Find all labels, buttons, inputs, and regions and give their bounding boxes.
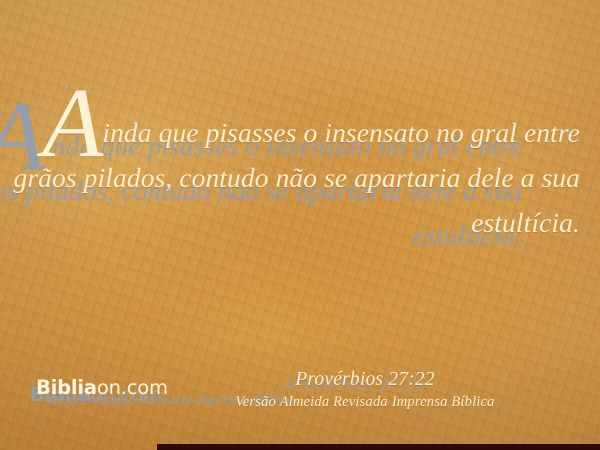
bottom-accent-bar bbox=[157, 444, 600, 450]
version-line: Versão Almeida Revisada Imprensa Bíblica bbox=[155, 392, 575, 413]
verse-text-block: Ainda que pisasses o insensato no gral e… bbox=[0, 52, 600, 332]
verse-text-main: Ainda que pisasses o insensato no gral e… bbox=[0, 110, 580, 245]
reference-block: Provérbios 27:22 Versão Almeida Revisada… bbox=[155, 368, 575, 413]
reference-main: Provérbios 27:22 Versão Almeida Revisada… bbox=[155, 368, 575, 413]
verse-image-card: Ainda que pisasses o insensato no gral e… bbox=[0, 0, 600, 450]
reference-line: Provérbios 27:22 bbox=[155, 368, 575, 392]
footer: Bibliaon.com Bibliaon.com Provérbios 27:… bbox=[0, 360, 600, 450]
